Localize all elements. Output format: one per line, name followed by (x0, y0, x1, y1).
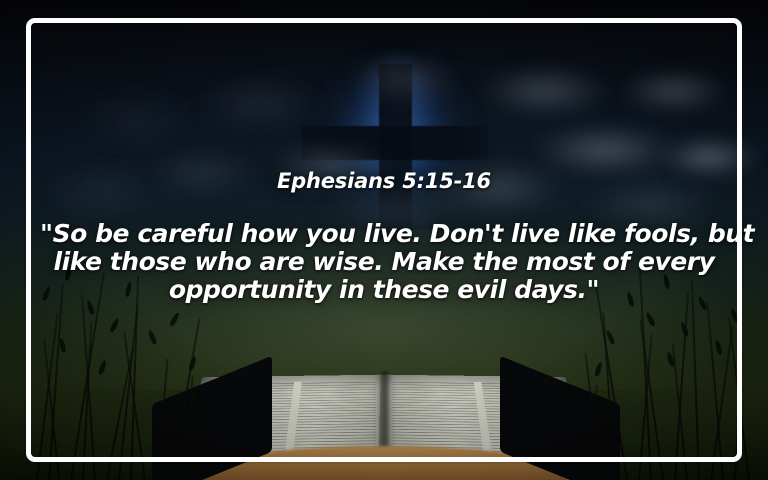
white-border-frame (26, 18, 742, 462)
verse-card: Ephesians 5:15-16 "So be careful how you… (0, 0, 768, 480)
